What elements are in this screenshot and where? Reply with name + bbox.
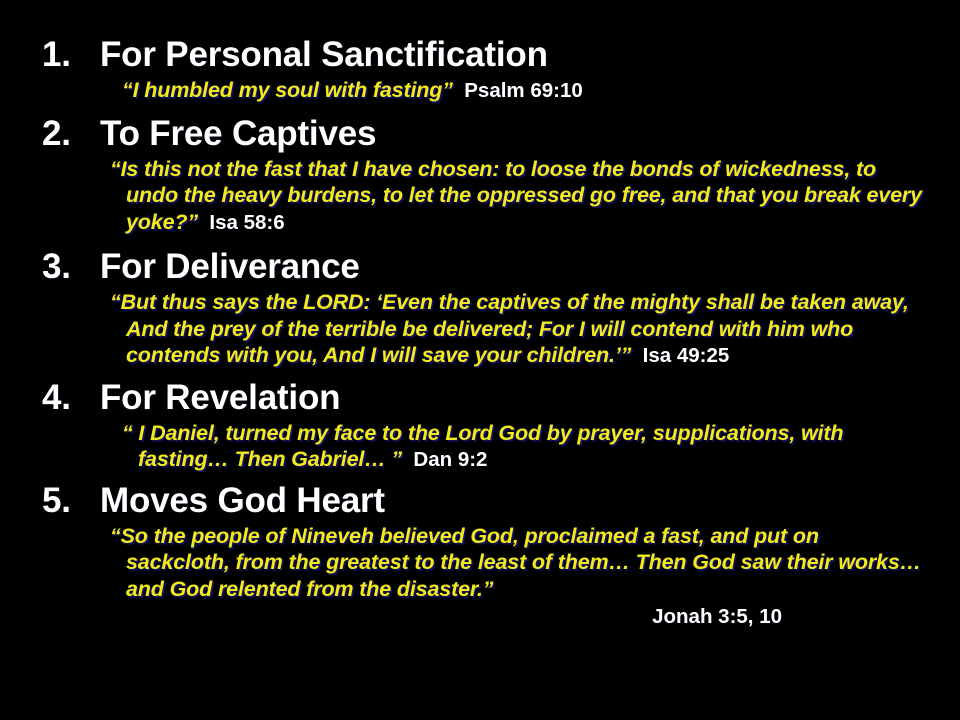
list-item: 4.For Revelation “ I Daniel, turned my f… [0,376,960,474]
list-item: 1.For Personal Sanctification “I humbled… [0,33,960,105]
quote-text-1: “I humbled my soul with fasting” [122,78,453,102]
quote-reference-3: Isa 49:25 [631,344,729,367]
item-quote-2: “Is this not the fast that I have chosen… [0,156,960,237]
item-title-5: Moves God Heart [100,479,385,523]
item-number-2: 2. [42,112,100,156]
item-quote-1: “I humbled my soul with fasting” Psalm 6… [0,77,960,105]
item-heading-5: 5.Moves God Heart [0,479,960,523]
item-number-4: 4. [42,376,100,420]
quote-reference-5: Jonah 3:5, 10 [0,602,960,632]
list-item: 5.Moves God Heart “So the people of Nine… [0,479,960,633]
item-title-4: For Revelation [100,376,340,420]
item-number-5: 5. [42,479,100,523]
quote-reference-2: Isa 58:6 [198,211,285,234]
quote-text-3: “But thus says the LORD: ‘Even the capti… [110,290,909,367]
item-heading-2: 2.To Free Captives [0,112,960,156]
item-number-1: 1. [42,33,100,77]
list-item: 2.To Free Captives “Is this not the fast… [0,112,960,237]
item-title-3: For Deliverance [100,245,360,289]
spacer [0,236,960,245]
spacer [0,105,960,112]
item-title-2: To Free Captives [100,112,376,156]
item-heading-3: 3.For Deliverance [0,245,960,289]
quote-text-5: “So the people of Nineveh believed God, … [110,524,921,601]
list-item: 3.For Deliverance “But thus says the LOR… [0,245,960,370]
item-heading-4: 4.For Revelation [0,376,960,420]
quote-reference-1: Psalm 69:10 [453,79,583,102]
item-quote-5: “So the people of Nineveh believed God, … [0,523,960,603]
slide-canvas: 1.For Personal Sanctification “I humbled… [0,0,960,720]
item-quote-4: “ I Daniel, turned my face to the Lord G… [0,420,960,474]
item-quote-3: “But thus says the LORD: ‘Even the capti… [0,289,960,370]
item-number-3: 3. [42,245,100,289]
quote-reference-4: Dan 9:2 [402,448,487,471]
item-title-1: For Personal Sanctification [100,33,548,77]
item-heading-1: 1.For Personal Sanctification [0,33,960,77]
